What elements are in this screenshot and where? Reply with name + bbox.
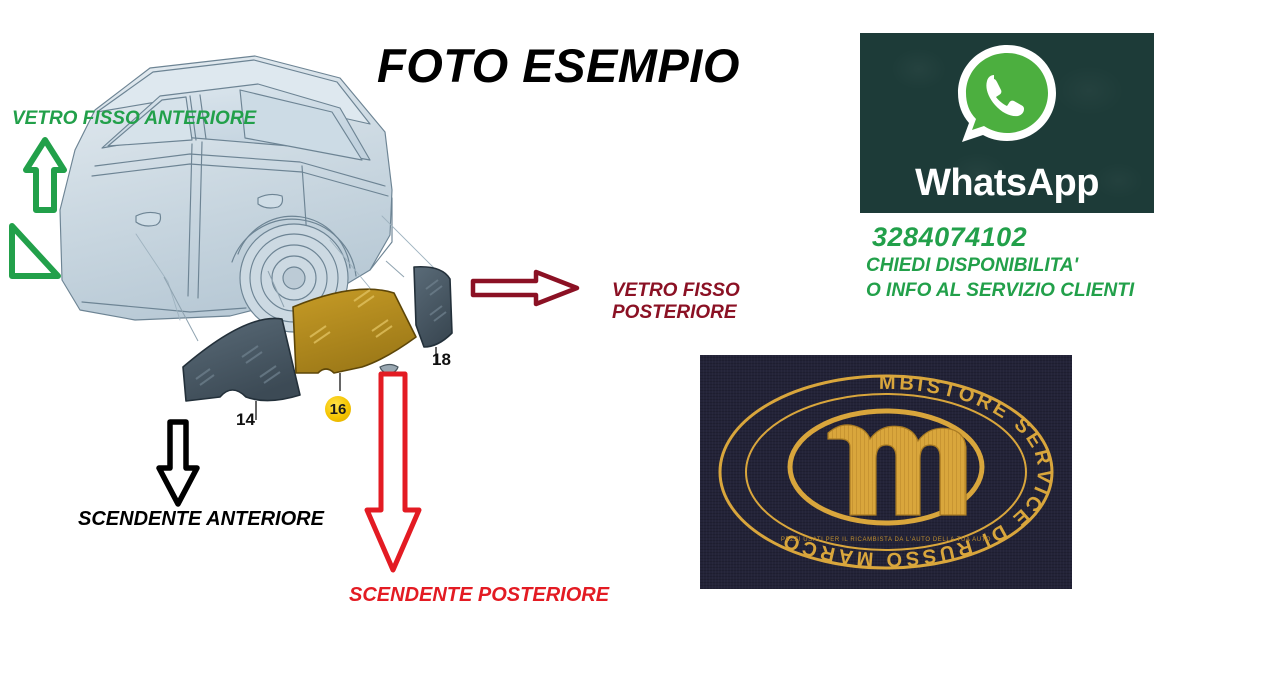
shop-logo: MRICAMBISTORE SERVICE DI RUSSO MARCO PEZ…	[700, 355, 1072, 589]
part-number-16-badge: 16	[325, 396, 351, 422]
callout-scendente-anteriore: SCENDENTE ANTERIORE	[78, 508, 324, 532]
arrow-up-green-icon	[22, 136, 68, 214]
contact-block: 3284074102 CHIEDI DISPONIBILITA' O INFO …	[866, 222, 1134, 303]
logo-fine-print: PEZZI USATI PER IL RICAMBISTA DA L'AUTO …	[781, 537, 991, 543]
phone-number[interactable]: 3284074102	[866, 222, 1134, 253]
page-title: FOTO ESEMPIO	[377, 38, 740, 93]
whatsapp-phone-bubble-icon	[952, 41, 1062, 153]
callout-vetro-fisso-anteriore: VETRO FISSO ANTERIORE	[12, 108, 256, 130]
logo-monogram	[828, 425, 966, 515]
part-14-shape	[183, 318, 300, 420]
whatsapp-banner: WhatsApp	[860, 33, 1154, 213]
callout-vetro-fisso-posteriore: VETRO FISSO POSTERIORE	[612, 280, 740, 325]
arrow-down-black-icon	[155, 418, 201, 508]
callout-scendente-posteriore: SCENDENTE POSTERIORE	[349, 584, 609, 608]
arrow-down-red-icon	[362, 370, 424, 575]
contact-line-2: O INFO AL SERVIZIO CLIENTI	[866, 278, 1134, 303]
whatsapp-wordmark: WhatsApp	[860, 162, 1154, 205]
triangle-green-icon	[6, 220, 62, 282]
contact-line-1: CHIEDI DISPONIBILITA'	[866, 253, 1134, 278]
part-number-14: 14	[236, 410, 255, 430]
arrow-right-darkred-icon	[470, 268, 580, 308]
part-number-18: 18	[432, 350, 451, 370]
